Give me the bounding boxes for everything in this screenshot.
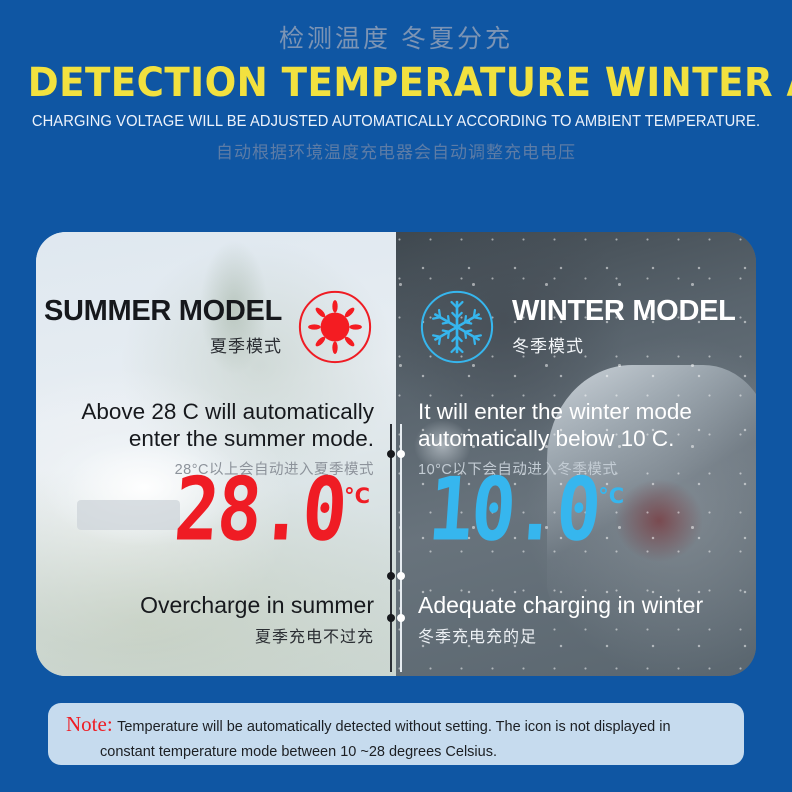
header-english-subtitle: CHARGING VOLTAGE WILL BE ADJUSTED AUTOMA…	[20, 113, 772, 131]
rail-dot	[387, 450, 395, 458]
winter-desc-line1: It will enter the winter mode	[418, 398, 692, 425]
note-first-line: Note: Temperature will be automatically …	[66, 712, 728, 737]
summer-mode-title: SUMMER MODEL	[44, 297, 282, 327]
summer-temperature-value: 28.0	[172, 470, 348, 550]
sun-icon	[296, 288, 374, 366]
summer-mode-panel: SUMMER MODEL 夏季模式	[36, 232, 396, 676]
page-title: DETECTION TEMPERATURE WINTER AND SUMMER	[28, 62, 765, 104]
summer-divider-rail	[390, 424, 392, 672]
note-line1-text: Temperature will be automatically detect…	[117, 719, 670, 735]
rail-dot	[387, 572, 395, 580]
winter-caption: Adequate charging in winter 冬季充电充的足	[418, 592, 703, 647]
note-label: Note:	[66, 712, 113, 736]
summer-temperature-display: 28.0 °C	[172, 482, 370, 550]
winter-caption-en: Adequate charging in winter	[418, 592, 703, 619]
mode-comparison-panel: SUMMER MODEL 夏季模式	[36, 232, 756, 676]
summer-temperature-unit: °C	[344, 484, 370, 508]
winter-temperature-display: 10.0 °C	[426, 482, 624, 550]
rail-dot	[387, 614, 395, 622]
summer-mode-header: SUMMER MODEL 夏季模式	[44, 288, 374, 366]
summer-caption-en: Overcharge in summer	[140, 592, 374, 619]
note-line2-text: constant temperature mode between 10 ~28…	[66, 744, 728, 760]
summer-mode-title-cn: 夏季模式	[44, 332, 282, 357]
winter-mode-header: WINTER MODEL 冬季模式	[418, 288, 736, 366]
summer-caption: Overcharge in summer 夏季充电不过充	[140, 592, 374, 647]
note-box: Note: Temperature will be automatically …	[48, 703, 744, 765]
summer-caption-cn: 夏季充电不过充	[140, 623, 374, 647]
winter-mode-title-cn: 冬季模式	[512, 332, 736, 357]
rail-dot	[397, 572, 405, 580]
page-header: 检测温度 冬夏分充 DETECTION TEMPERATURE WINTER A…	[0, 0, 792, 163]
winter-temperature-unit: °C	[598, 484, 624, 508]
summer-desc-line2: enter the summer mode.	[81, 425, 374, 452]
rail-dot	[397, 614, 405, 622]
rail-dot	[397, 450, 405, 458]
header-chinese-subtitle: 自动根据环境温度充电器会自动调整充电电压	[0, 138, 792, 163]
header-chinese-headline: 检测温度 冬夏分充	[0, 24, 792, 54]
winter-desc-line2: automatically below 10 C.	[418, 425, 692, 452]
winter-divider-rail	[400, 424, 402, 672]
summer-desc-line1: Above 28 C will automatically	[81, 398, 374, 425]
winter-mode-title: WINTER MODEL	[512, 297, 736, 327]
winter-mode-panel: WINTER MODEL 冬季模式 It will enter the wint…	[396, 232, 756, 676]
snowflake-icon	[418, 288, 496, 366]
winter-temperature-value: 10.0	[426, 470, 602, 550]
winter-caption-cn: 冬季充电充的足	[418, 623, 703, 647]
